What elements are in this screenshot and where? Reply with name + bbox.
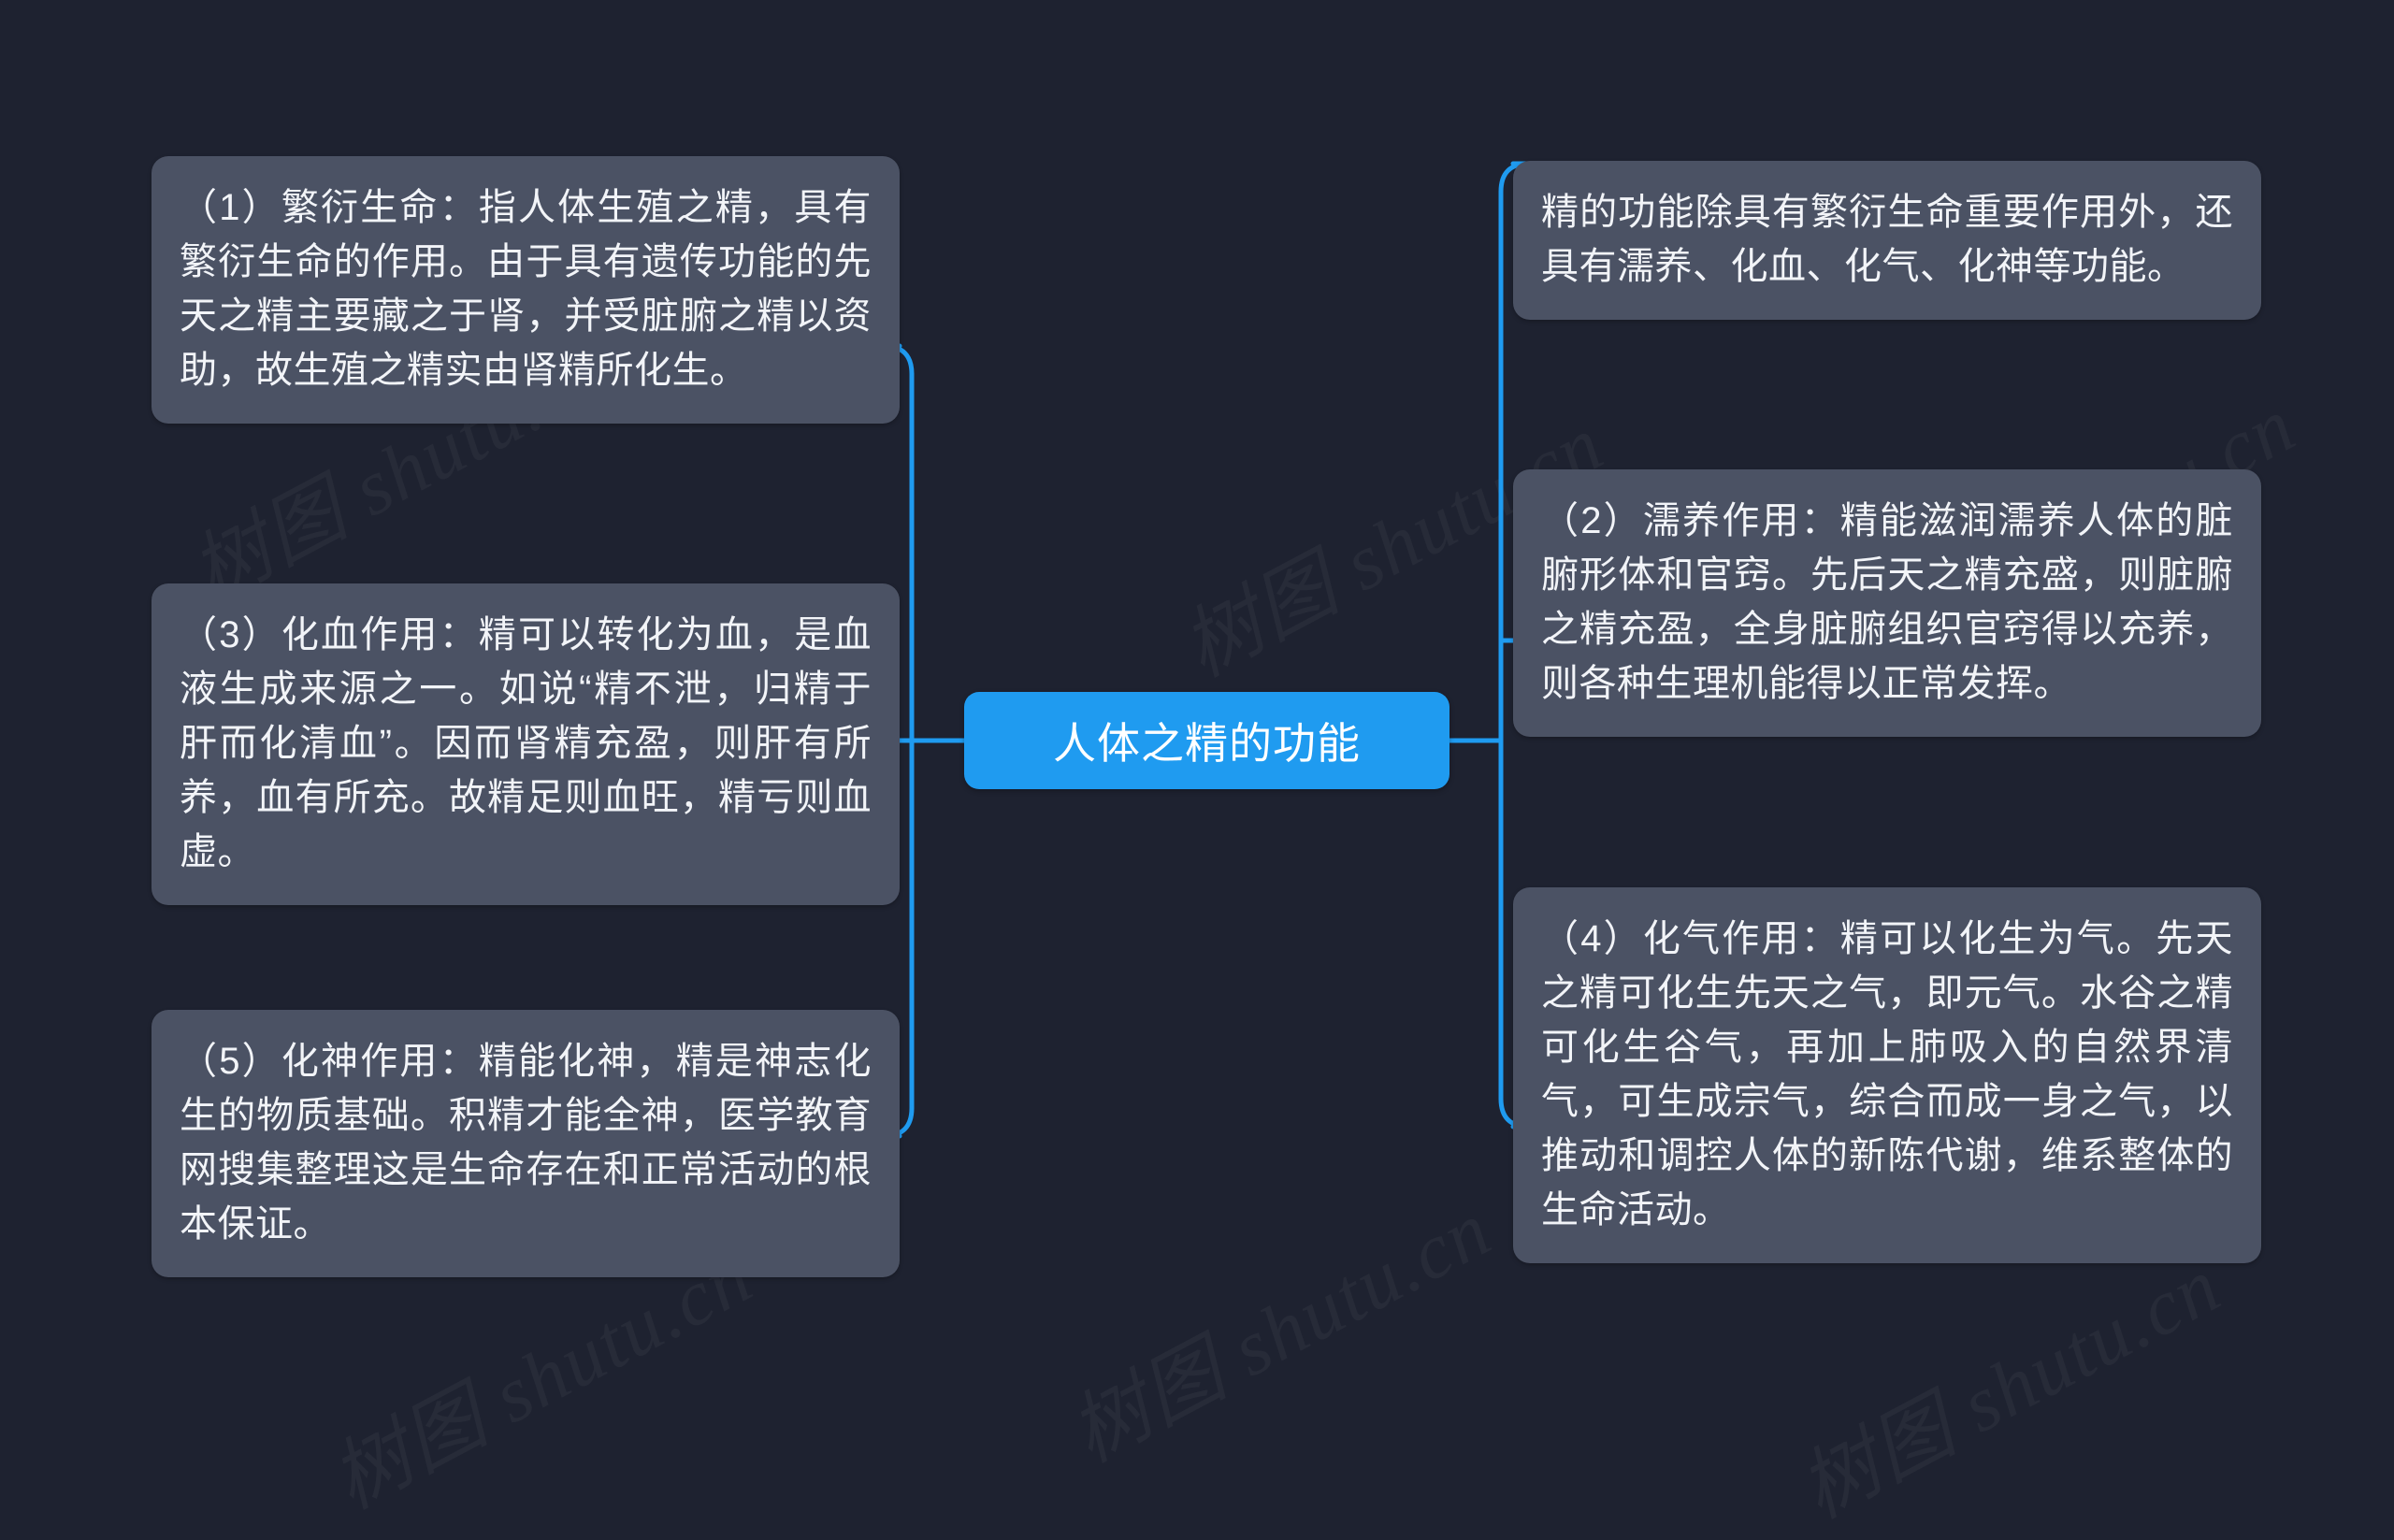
branch-node-huaqi-zuoyong[interactable]: （4）化气作用：精可以化生为气。先天之精可化生先天之气，即元气。水谷之精可化生谷… (1513, 887, 2261, 1263)
branch-node-huashen-zuoyong[interactable]: （5）化神作用：精能化神，精是神志化生的物质基础。积精才能全神，医学教育网搜集整… (151, 1010, 900, 1277)
mindmap-canvas: 树图 shutu.cn 树图 shutu.cn 树图 shutu.cn 树图 s… (0, 0, 2394, 1481)
watermark-text: 树图 shutu.cn (1777, 1223, 2237, 1539)
branch-node-huaxue-zuoyong[interactable]: （3）化血作用：精可以转化为血，是血液生成来源之一。如说“精不泄，归精于肝而化清… (151, 583, 900, 905)
watermark-text: 树图 shutu.cn (1047, 1167, 1507, 1483)
root-node[interactable]: 人体之精的功能 (964, 692, 1449, 789)
branch-node-ruyang-zuoyong[interactable]: （2）濡养作用：精能滋润濡养人体的脏腑形体和官窍。先后天之精充盛，则脏腑之精充盈… (1513, 469, 2261, 737)
branch-node-fanyan-shengming[interactable]: （1）繁衍生命：指人体生殖之精，具有繁衍生命的作用。由于具有遗传功能的先天之精主… (151, 156, 900, 424)
branch-node-summary[interactable]: 精的功能除具有繁衍生命重要作用外，还具有濡养、化血、化气、化神等功能。 (1513, 161, 2261, 320)
